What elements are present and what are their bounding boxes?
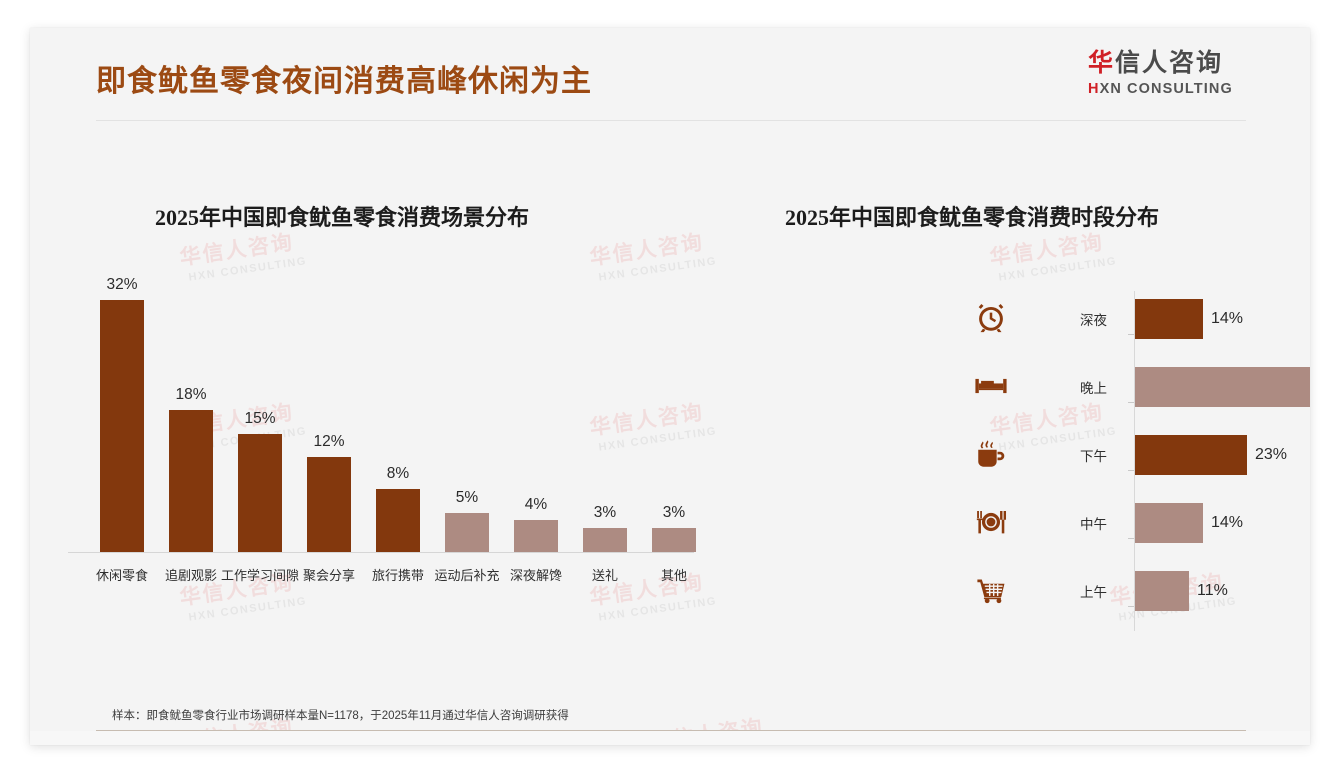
logo-en-rest: XN CONSULTING — [1100, 81, 1233, 97]
bar-value-label: 12% — [294, 433, 364, 451]
bar-value-label: 8% — [363, 465, 433, 483]
page-title: 即食鱿鱼零食夜间消费高峰休闲为主 — [96, 56, 592, 100]
vertical-bar[interactable] — [652, 528, 696, 552]
vertical-bar[interactable] — [514, 520, 558, 552]
alarm-clock-icon — [974, 301, 1008, 335]
vertical-bar[interactable] — [445, 513, 489, 552]
vertical-bar[interactable] — [583, 528, 627, 552]
horizontal-bar[interactable]: 14% — [1135, 503, 1203, 543]
header-divider — [96, 120, 1246, 121]
bar-value-label: 5% — [432, 489, 502, 507]
left-chart-title: 2025年中国即食鱿鱼零食消费场景分布 — [155, 200, 529, 232]
bed-icon — [974, 369, 1008, 403]
watermark: 华信人咨询HXN CONSULTING — [988, 224, 1118, 284]
right-chart-title: 2025年中国即食鱿鱼零食消费时段分布 — [785, 200, 1159, 232]
bar-value-label: 32% — [87, 276, 157, 294]
logo-chinese-text: 华信人咨询 — [1088, 50, 1268, 78]
horizontal-bar[interactable]: 11% — [1135, 571, 1189, 611]
logo-rest-chars: 信人咨询 — [1115, 49, 1223, 77]
bar-value-label: 14% — [1211, 514, 1243, 532]
coffee-mug-icon — [974, 437, 1008, 471]
consumption-timeslot-bar-chart: 深夜14%晚上38%下午23%中午14%上午11% — [930, 283, 1300, 643]
bar-category-label: 其他 — [625, 565, 723, 584]
axis-tick — [1128, 470, 1134, 471]
bar-group: 32%休闲零食 — [87, 300, 157, 552]
dinner-plate-icon — [974, 505, 1008, 539]
vertical-bar[interactable] — [238, 434, 282, 552]
logo-accent-char: 华 — [1088, 49, 1115, 77]
vertical-bar[interactable] — [100, 300, 144, 552]
logo-english-text: HXN CONSULTING — [1088, 81, 1268, 97]
logo-en-accent: H — [1088, 81, 1100, 97]
bar-value-label: 4% — [501, 496, 571, 514]
bar-group: 5%运动后补充 — [432, 513, 502, 552]
bar-value-label: 11% — [1197, 582, 1228, 600]
consumption-scenario-bar-chart: 32%休闲零食18%追剧观影15%工作学习间隙12%聚会分享8%旅行携带5%运动… — [60, 268, 700, 618]
timeslot-label: 下午 — [1080, 445, 1107, 465]
bar-group: 3%送礼 — [570, 528, 640, 552]
horizontal-bar[interactable]: 23% — [1135, 435, 1247, 475]
bar-group: 12%聚会分享 — [294, 457, 364, 552]
axis-tick — [1128, 402, 1134, 403]
slide-card: 即食鱿鱼零食夜间消费高峰休闲为主 华信人咨询 HXN CONSULTING 20… — [30, 28, 1310, 745]
watermark-chinese: 华信人咨询 — [588, 224, 716, 271]
bar-group: 4%深夜解馋 — [501, 520, 571, 552]
vertical-bar[interactable] — [307, 457, 351, 552]
bar-value-label: 15% — [225, 410, 295, 428]
vertical-bar[interactable] — [169, 410, 213, 552]
bar-value-label: 3% — [639, 504, 709, 522]
bar-group: 3%其他 — [639, 528, 709, 552]
slide-footer: ©2026.1 HXR华信人咨询 www.hxrcon.com — [30, 731, 1310, 745]
timeslot-label: 上午 — [1080, 581, 1107, 601]
axis-tick — [1128, 334, 1134, 335]
shopping-cart-icon — [974, 573, 1008, 607]
axis-tick — [1128, 538, 1134, 539]
bar-value-label: 3% — [570, 504, 640, 522]
timeslot-label: 晚上 — [1080, 377, 1107, 397]
bar-group: 18%追剧观影 — [156, 410, 226, 552]
bar-value-label: 14% — [1211, 310, 1243, 328]
bar-value-label: 23% — [1255, 446, 1287, 464]
axis-tick — [1128, 606, 1134, 607]
vertical-bar[interactable] — [376, 489, 420, 552]
left-chart-baseline — [68, 552, 694, 553]
timeslot-row: 深夜14% — [930, 287, 1300, 355]
timeslot-label: 中午 — [1080, 513, 1107, 533]
horizontal-bar[interactable]: 14% — [1135, 299, 1203, 339]
watermark-english: HXN CONSULTING — [998, 255, 1118, 283]
sample-footnote: 样本：即食鱿鱼零食行业市场调研样本量N=1178，于2025年11月通过华信人咨… — [112, 707, 569, 723]
timeslot-label: 深夜 — [1080, 309, 1107, 329]
bar-group: 15%工作学习间隙 — [225, 434, 295, 552]
timeslot-row: 上午11% — [930, 559, 1300, 627]
company-logo: 华信人咨询 HXN CONSULTING — [1088, 50, 1268, 97]
timeslot-row: 中午14% — [930, 491, 1300, 559]
bar-value-label: 18% — [156, 386, 226, 404]
timeslot-row: 下午23% — [930, 423, 1300, 491]
bar-group: 8%旅行携带 — [363, 489, 433, 552]
timeslot-row: 晚上38% — [930, 355, 1300, 423]
slide-header: 即食鱿鱼零食夜间消费高峰休闲为主 华信人咨询 HXN CONSULTING — [30, 28, 1310, 120]
horizontal-bar[interactable]: 38% — [1135, 367, 1310, 407]
